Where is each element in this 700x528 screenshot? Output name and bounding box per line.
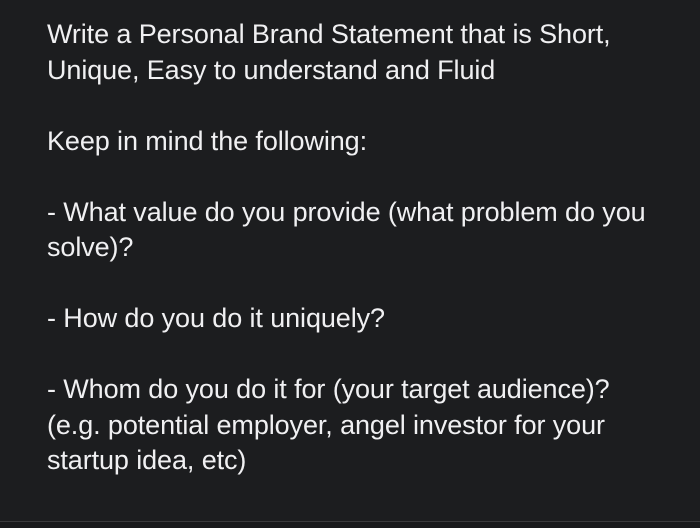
paragraph-lead-in: Keep in mind the following: — [47, 124, 647, 160]
paragraph-bullet-audience: - Whom do you do it for (your target aud… — [47, 372, 647, 479]
slide-screen: Write a Personal Brand Statement that is… — [0, 0, 700, 528]
paragraph-bullet-uniqueness: - How do you do it uniquely? — [47, 301, 647, 337]
note-body: Write a Personal Brand Statement that is… — [47, 17, 647, 479]
bottom-strip — [0, 522, 700, 528]
paragraph-instruction: Write a Personal Brand Statement that is… — [47, 17, 647, 88]
paragraph-bullet-value: - What value do you provide (what proble… — [47, 195, 647, 266]
